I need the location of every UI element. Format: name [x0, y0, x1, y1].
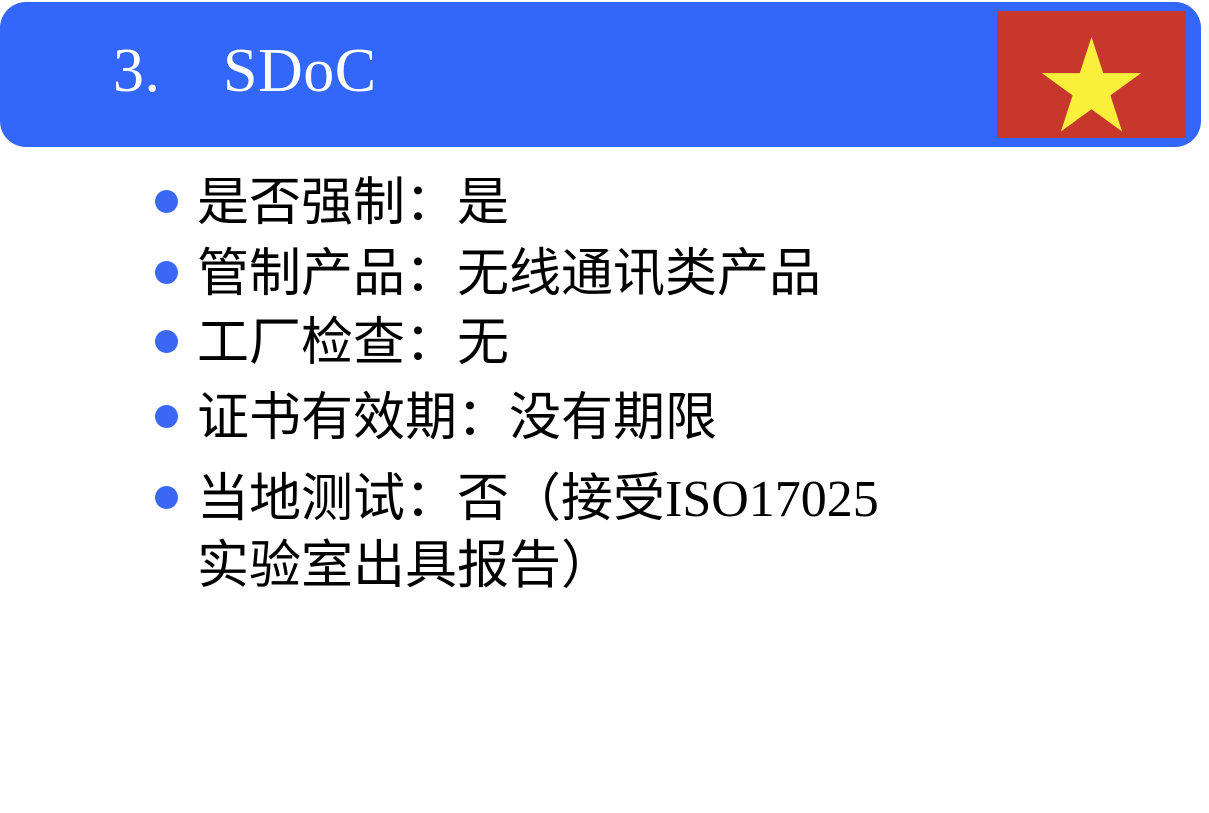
list-item: 证书有效期：没有期限: [155, 385, 1195, 452]
vietnam-flag-graphic: [997, 11, 1186, 138]
list-item: 管制产品：无线通讯类产品: [155, 241, 1195, 308]
list-item-label: 工厂检查：无: [197, 310, 1195, 377]
slide-canvas: 3. SDoC 是否强制：是 管制产品：无线通讯类产品 工厂检查：无 证书有效期…: [0, 0, 1209, 813]
bullet-dot-icon: [155, 330, 178, 353]
bullet-dot-icon: [155, 486, 178, 509]
bullet-dot-icon: [155, 190, 178, 213]
list-item-label: 证书有效期：没有期限: [197, 385, 1195, 452]
bullet-list: 是否强制：是 管制产品：无线通讯类产品 工厂检查：无 证书有效期：没有期限 当地…: [155, 170, 1195, 600]
list-item: 工厂检查：无: [155, 310, 1195, 377]
list-item: 当地测试：否（接受ISO17025实验室出具报告）: [155, 466, 1195, 600]
slide-title: 3. SDoC: [113, 32, 377, 110]
list-item-label: 当地测试：否（接受ISO17025实验室出具报告）: [197, 466, 887, 600]
bullet-dot-icon: [155, 261, 178, 284]
vietnam-flag-icon: [997, 11, 1186, 138]
list-item-label: 管制产品：无线通讯类产品: [197, 241, 837, 308]
list-item: 是否强制：是: [155, 170, 1195, 237]
bullet-dot-icon: [155, 405, 178, 428]
list-item-label: 是否强制：是: [197, 170, 1195, 237]
